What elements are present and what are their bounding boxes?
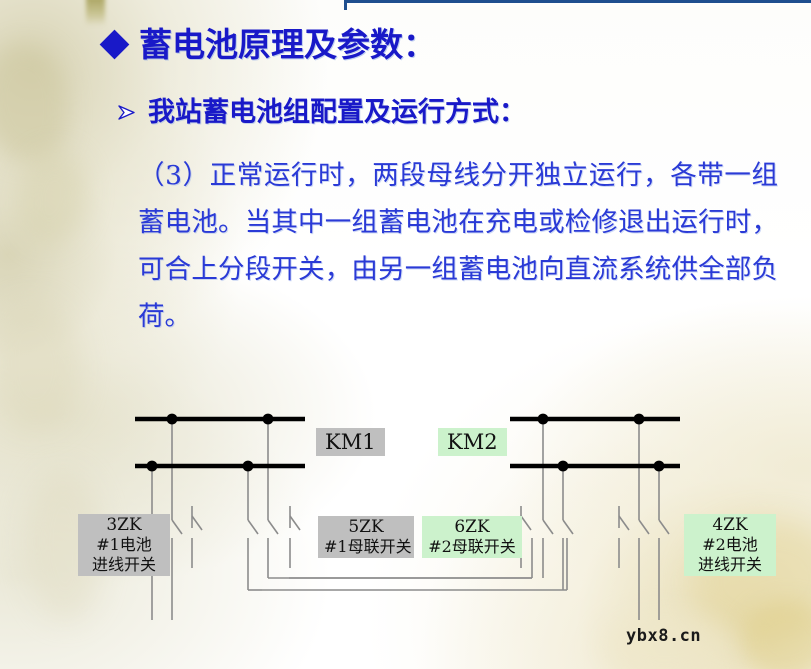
switch-label-3zk-line3: 进线开关 bbox=[84, 555, 164, 575]
background-petal-2 bbox=[18, 150, 88, 246]
site-watermark: ybx8.cn bbox=[626, 626, 701, 646]
switch-label-4zk-line3: 进线开关 bbox=[690, 555, 770, 575]
body-paragraph: （3）正常运行时，两段母线分开独立运行，各带一组蓄电池。当其中一组蓄电池在充电或… bbox=[138, 152, 778, 340]
switch-label-5zk-line2: #1母联开关 bbox=[324, 537, 408, 557]
switch-label-6zk-line2: #2母联开关 bbox=[428, 537, 516, 557]
switch-label-3zk-code: 3ZK bbox=[84, 515, 164, 535]
slide-frame-sheen bbox=[347, 3, 811, 8]
diagram-bus-bars bbox=[135, 419, 680, 466]
background-stalk-decoration bbox=[86, 0, 105, 26]
heading-level-2-text: 我站蓄电池组配置及运行方式： bbox=[148, 99, 526, 126]
switch-label-5zk: 5ZK #1母联开关 bbox=[318, 516, 414, 558]
switch-label-5zk-code: 5ZK bbox=[324, 517, 408, 537]
switch-label-6zk-code: 6ZK bbox=[428, 517, 516, 537]
switch-label-4zk-code: 4ZK bbox=[690, 515, 770, 535]
diagram-junction-nodes bbox=[147, 414, 665, 472]
background-petal-1 bbox=[0, 44, 68, 162]
switch-label-4zk-line2: #2电池 bbox=[690, 535, 770, 555]
diamond-bullet-icon bbox=[100, 30, 130, 60]
switch-label-6zk: 6ZK #2母联开关 bbox=[422, 516, 522, 558]
heading-level-1: 蓄电池原理及参数： bbox=[104, 28, 436, 61]
heading-level-1-text: 蓄电池原理及参数： bbox=[139, 28, 436, 61]
switch-label-3zk: 3ZK #1电池 进线开关 bbox=[78, 514, 170, 576]
bus-label-km2: KM2 bbox=[438, 428, 507, 456]
circuit-diagram bbox=[0, 388, 811, 633]
slide-canvas: 蓄电池原理及参数： 我站蓄电池组配置及运行方式： （3）正常运行时，两段母线分开… bbox=[0, 0, 811, 669]
arrow-bullet-icon bbox=[118, 104, 135, 121]
switch-label-4zk: 4ZK #2电池 进线开关 bbox=[684, 514, 776, 576]
bus-label-km1: KM1 bbox=[316, 428, 385, 456]
heading-level-2: 我站蓄电池组配置及运行方式： bbox=[118, 99, 526, 126]
switch-label-3zk-line2: #1电池 bbox=[84, 535, 164, 555]
